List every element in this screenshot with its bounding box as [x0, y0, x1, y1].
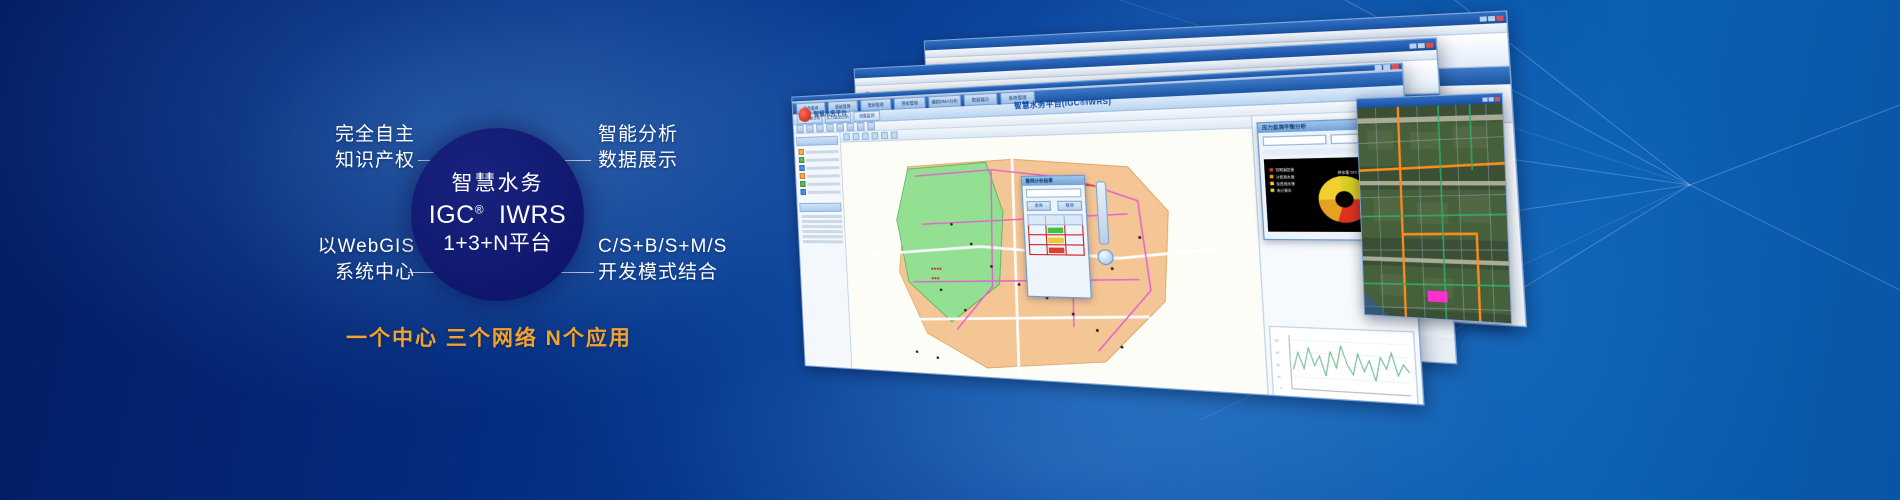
gis-map-canvas[interactable]: ●●●●●●● 管网分析结果 查询 取消	[840, 117, 1268, 403]
measure-tool-icon[interactable]	[881, 132, 888, 139]
col-header	[1028, 215, 1046, 225]
attribute-row	[802, 215, 842, 218]
select-tool-icon[interactable]	[871, 132, 878, 139]
close-icon[interactable]	[1496, 15, 1503, 20]
hub-product-code: IGC® IWRS	[429, 201, 566, 231]
minimize-icon[interactable]	[1480, 16, 1487, 21]
identify-tool-icon[interactable]	[891, 131, 898, 139]
feature-tr-row2: 数据展示	[598, 148, 678, 174]
status-swatch	[1049, 247, 1064, 253]
cell-id	[1028, 225, 1046, 235]
feature-label-top-left: 完全自主 知识产权	[305, 122, 415, 174]
pipe-result-table	[1027, 214, 1085, 256]
attribute-row	[803, 235, 843, 238]
layer-tree-item[interactable]	[799, 164, 839, 171]
table-row[interactable]	[1029, 245, 1084, 256]
app-window-front[interactable]: 智慧水务平台 智慧水务平台(IGC®IWRS) 综合查询 基础管理 管网管理 营…	[791, 62, 1424, 405]
cell-id	[1029, 245, 1047, 255]
zoom-in-icon[interactable]	[853, 133, 860, 140]
attribute-bar	[802, 215, 842, 218]
feature-bl-row1: 以WebGIS	[318, 236, 415, 257]
cell-value	[1065, 235, 1084, 245]
layer-label-bar	[806, 149, 839, 153]
pie-legend-label: 计费用水量	[1276, 174, 1295, 179]
banner-stage: 智慧水务 IGC® IWRS 1+3+N平台 完全自主 知识产权 智能分析 数据…	[0, 0, 1900, 500]
pipe-dialog-buttons[interactable]: 查询 取消	[1026, 201, 1082, 211]
feature-tl-row2: 知识产权	[305, 148, 415, 174]
pie-legend-label: 未计量水	[1277, 188, 1293, 193]
status-swatch	[1048, 227, 1063, 233]
attribute-row	[802, 225, 842, 228]
feature-label-top-right: 智能分析 数据展示	[598, 122, 678, 174]
attribute-bar	[802, 230, 842, 233]
feature-label-bottom-left: 以WebGIS 系统中心	[287, 234, 415, 286]
screenshot-stack: 智慧水务平台 智慧水务平台(IGC®IWRS) 综合查询 基础管理 管网管理 营…	[760, 40, 1560, 380]
table-header-row	[1028, 215, 1083, 225]
layer-color-swatch-icon	[800, 173, 806, 179]
table-row[interactable]	[1028, 225, 1083, 235]
tool-icon[interactable]	[796, 125, 804, 133]
layer-tree-item[interactable]	[800, 180, 840, 187]
feature-br-row1: C/S+B/S+M/S	[598, 236, 727, 257]
pipe-dialog-input[interactable]	[1026, 188, 1082, 198]
tool-icon[interactable]	[816, 124, 824, 132]
tool-icon[interactable]	[806, 125, 814, 133]
layer-color-swatch-icon	[798, 149, 804, 155]
central-hub-circle: 智慧水务 IGC® IWRS 1+3+N平台	[411, 128, 584, 301]
tool-icon[interactable]	[826, 124, 834, 132]
layer-tree-item[interactable]	[800, 172, 840, 179]
close-icon[interactable]	[1426, 42, 1433, 47]
layer-tree-item[interactable]	[799, 156, 839, 163]
tool-icon[interactable]	[836, 123, 844, 131]
layer-color-swatch-icon	[799, 157, 805, 163]
hub-iwrs-text: IWRS	[499, 201, 566, 229]
hub-title-cn: 智慧水务	[452, 172, 544, 197]
registered-mark-icon: ®	[475, 203, 484, 217]
maximize-icon[interactable]	[1488, 15, 1495, 20]
feature-tl-row1: 完全自主	[335, 124, 415, 145]
cancel-button[interactable]: 取消	[1057, 201, 1082, 211]
col-header	[1046, 215, 1065, 225]
layer-color-swatch-icon	[800, 189, 806, 195]
layer-label-bar	[807, 182, 840, 186]
status-text: 就绪	[809, 373, 816, 378]
layer-color-swatch-icon	[800, 181, 806, 187]
svg-text:●●●: ●●●	[931, 275, 940, 281]
layer-tree-item[interactable]	[798, 148, 838, 155]
cell-value	[1065, 245, 1084, 255]
pan-compass-icon[interactable]	[1097, 249, 1114, 265]
layer-color-swatch-icon	[799, 165, 805, 171]
layer-label-bar	[806, 166, 839, 170]
feature-bl-row2: 系统中心	[287, 260, 415, 286]
close-icon[interactable]	[1495, 96, 1500, 100]
zoom-slider[interactable]	[1095, 181, 1109, 245]
attribute-row	[802, 230, 842, 233]
maximize-icon[interactable]	[1489, 97, 1494, 101]
hub-platform-label: 1+3+N平台	[443, 232, 552, 257]
pan-tool-icon[interactable]	[843, 133, 850, 140]
tool-icon[interactable]	[846, 123, 854, 131]
pipe-analysis-dialog[interactable]: 管网分析结果 查询 取消	[1021, 175, 1092, 299]
svg-text:●●●●: ●●●●	[931, 266, 943, 272]
front-window-body: ●●●●●●● 管网分析结果 查询 取消	[794, 111, 1424, 406]
attribute-bar	[803, 235, 843, 238]
cell-status	[1046, 225, 1065, 235]
layer-tree-item[interactable]	[800, 188, 840, 195]
banner-tagline: 一个中心 三个网络 N个应用	[346, 322, 632, 352]
status-swatch	[1048, 237, 1063, 243]
layer-label-bar	[806, 157, 839, 161]
pipe-dialog-body: 查询 取消	[1022, 185, 1088, 259]
attribute-row	[802, 220, 842, 223]
pie-legend-label: 免费用水量	[1276, 181, 1295, 186]
zoom-out-icon[interactable]	[862, 132, 869, 139]
maximize-icon[interactable]	[1418, 42, 1425, 47]
feature-br-row2: 开发模式结合	[598, 260, 727, 286]
query-button[interactable]: 查询	[1026, 201, 1051, 211]
attribute-bar	[802, 225, 842, 228]
attribute-row	[803, 240, 843, 243]
attribute-bar	[802, 220, 842, 223]
cell-status	[1047, 245, 1066, 255]
hub-igc-text: IGC	[429, 201, 475, 229]
layer-tree-header	[796, 136, 838, 147]
cell-id	[1029, 235, 1047, 245]
timeseries-line-chart: 604530150	[1270, 327, 1417, 406]
minimize-icon[interactable]	[1482, 97, 1487, 101]
tool-icon[interactable]	[867, 122, 875, 131]
satellite-imagery-layer	[1357, 103, 1511, 324]
col-header	[1064, 215, 1083, 225]
timeseries-chart-panel: 604530150	[1269, 326, 1419, 406]
feature-tr-row1: 智能分析	[598, 124, 678, 145]
feature-label-bottom-right: C/S+B/S+M/S 开发模式结合	[598, 234, 727, 286]
table-row[interactable]	[1029, 235, 1084, 245]
date-from-input[interactable]	[1262, 135, 1326, 147]
satellite-map-window[interactable]	[1356, 93, 1512, 325]
cell-value	[1064, 225, 1083, 235]
attribute-panel-header	[799, 203, 841, 212]
pie-legend-label: 管网漏损量	[1275, 167, 1294, 172]
tool-icon[interactable]	[857, 122, 865, 131]
layer-label-bar	[807, 174, 840, 178]
minimize-icon[interactable]	[1409, 43, 1416, 48]
layer-label-bar	[808, 190, 841, 193]
cell-status	[1047, 235, 1066, 245]
attribute-bar	[803, 240, 843, 243]
